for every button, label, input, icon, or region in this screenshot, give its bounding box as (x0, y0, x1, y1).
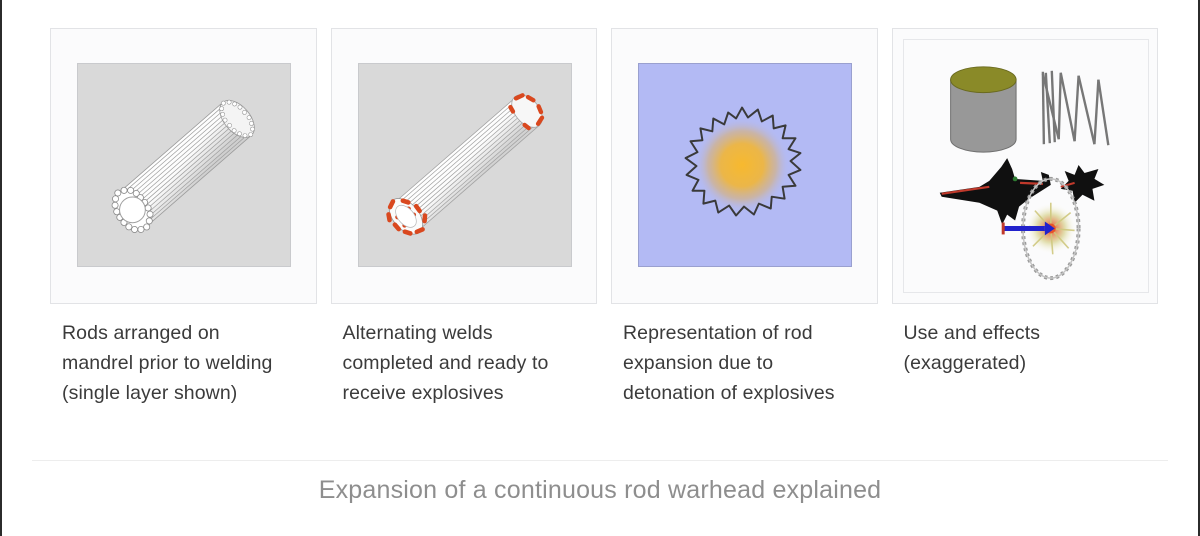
caption-line: expansion due to (611, 348, 878, 378)
expanding-zigzag-ring-with-blast-icon (639, 64, 851, 266)
caption-rod-expansion: Representation of rod expansion due to d… (611, 318, 878, 408)
caption-rods-on-mandrel: Rods arranged on mandrel prior to weldin… (50, 318, 317, 408)
caption-line: mandrel prior to welding (50, 348, 317, 378)
warhead-cylinder (950, 67, 1015, 152)
caption-row: Rods arranged on mandrel prior to weldin… (50, 318, 1158, 408)
warhead-cylinder-rods-aircraft-intercept-icon (904, 40, 1148, 292)
section-divider (32, 460, 1168, 461)
caption-line: completed and ready to (331, 348, 598, 378)
rod-bundle-on-mandrel-icon (78, 64, 290, 266)
illustration-panel-use-and-effects (892, 28, 1159, 304)
illustration-image-area (77, 63, 291, 267)
caption-line: Use and effects (892, 318, 1159, 348)
aircraft-canopy-light (1012, 177, 1017, 182)
figure-container: Rods arranged on mandrel prior to weldin… (0, 0, 1200, 536)
aircraft-silhouette-small (1060, 165, 1104, 203)
caption-alternating-welds: Alternating welds completed and ready to… (331, 318, 598, 408)
illustration-panel-row (50, 28, 1158, 308)
rod-bundle-with-red-welds-icon (359, 64, 571, 266)
caption-line: Alternating welds (331, 318, 598, 348)
illustration-image-area (358, 63, 572, 267)
expanded-rod-zigzag (1042, 71, 1107, 145)
caption-line: (single layer shown) (50, 378, 317, 408)
illustration-image-area (903, 39, 1149, 293)
caption-line: receive explosives (331, 378, 598, 408)
illustration-panel-rods-on-mandrel (50, 28, 317, 304)
illustration-panel-rod-expansion (611, 28, 878, 304)
figure-title: Expansion of a continuous rod warhead ex… (2, 476, 1198, 505)
caption-line: Rods arranged on (50, 318, 317, 348)
caption-line: detonation of explosives (611, 378, 878, 408)
illustration-image-area (638, 63, 852, 267)
illustration-panel-alternating-welds (331, 28, 598, 304)
caption-use-and-effects: Use and effects (exaggerated) (892, 318, 1159, 408)
caption-line: (exaggerated) (892, 348, 1159, 378)
caption-line: Representation of rod (611, 318, 878, 348)
